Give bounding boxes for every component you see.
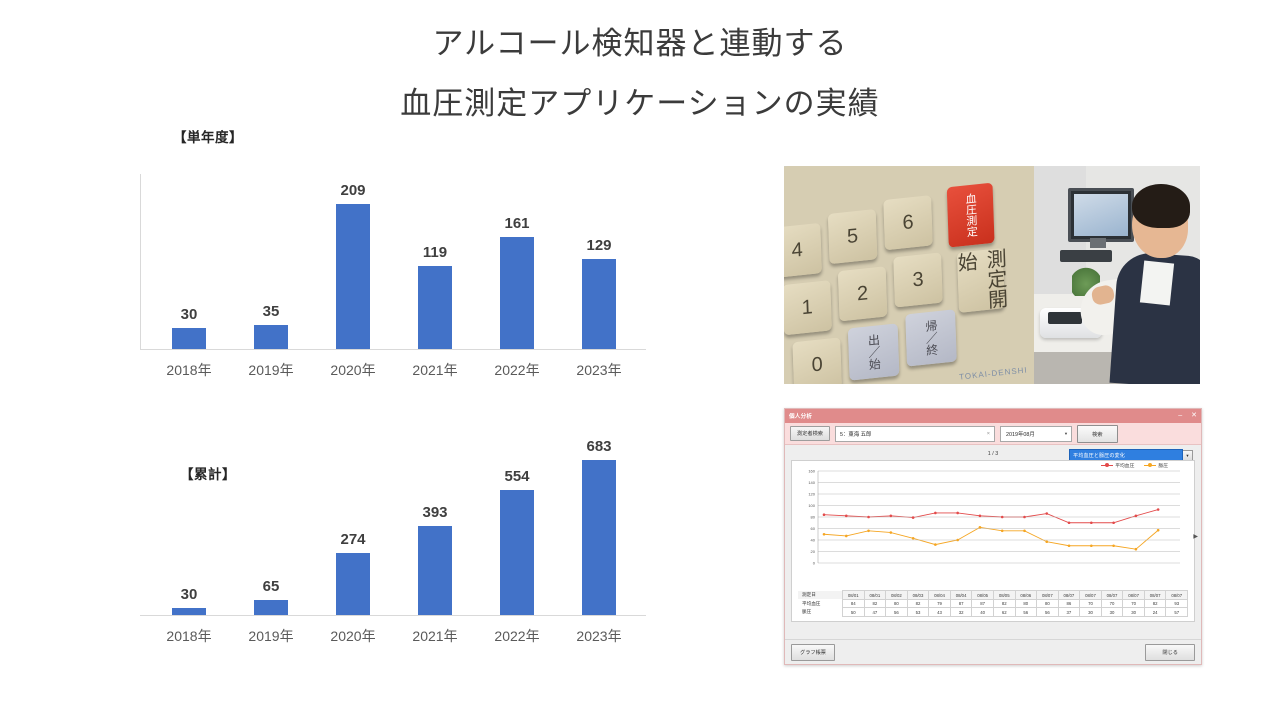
table-cell: 80 xyxy=(886,599,908,608)
svg-text:140: 140 xyxy=(808,480,815,485)
window-titlebar: 個人分析 – ✕ xyxy=(785,409,1201,423)
category-label: 2023年 xyxy=(558,626,640,646)
clear-icon[interactable]: × xyxy=(987,431,990,437)
window-footer: グラフ帳票 閉じる xyxy=(785,639,1201,664)
next-page-arrow-icon[interactable]: ▶ xyxy=(1193,533,1198,540)
legend-label: 脈圧 xyxy=(1158,462,1168,469)
table-cell: 08/01 xyxy=(864,591,886,600)
table-cell: 08/04 xyxy=(929,591,951,600)
table-row-header: 脈圧 xyxy=(798,608,843,617)
table-cell: 82 xyxy=(1144,599,1166,608)
table-cell: 57 xyxy=(1166,608,1188,617)
bar-value-label: 35 xyxy=(230,303,312,320)
table-cell: 08/05 xyxy=(993,591,1015,600)
legend-item: 平均血圧 xyxy=(1101,462,1134,469)
table-cell: 43 xyxy=(929,608,951,617)
chart-annual-plot: 302018年352019年2092020年1192021年1612022年12… xyxy=(148,166,644,401)
product-photo: 4 5 6 1 2 3 0 血圧測定 測定開始 出／始 帰／終 TOKAI-DE… xyxy=(784,166,1200,384)
bar xyxy=(254,325,288,349)
key-measure-start-label: 測定開始 xyxy=(951,247,1011,313)
table-cell: 24 xyxy=(1144,608,1166,617)
table-cell: 62 xyxy=(993,608,1015,617)
table-cell: 56 xyxy=(1037,608,1059,617)
table-cell: 30 xyxy=(1080,608,1102,617)
table-cell: 87 xyxy=(950,599,972,608)
svg-text:80: 80 xyxy=(811,515,816,520)
bp-line-chart-legend: 平均血圧脈圧 xyxy=(1101,462,1168,469)
title-line-1: アルコール検知器と連動する xyxy=(0,14,1280,74)
scene-monitor-stand xyxy=(1090,238,1106,248)
table-cell: 08/07 xyxy=(1037,591,1059,600)
bar xyxy=(254,600,288,615)
table-cell: 56 xyxy=(886,608,908,617)
keypad-device: 4 5 6 1 2 3 0 血圧測定 測定開始 出／始 帰／終 xyxy=(784,166,1034,384)
category-label: 2021年 xyxy=(394,360,476,380)
svg-text:160: 160 xyxy=(808,469,815,474)
bar-value-label: 161 xyxy=(476,215,558,232)
table-cell: 08/01 xyxy=(843,591,865,600)
window-controls: – ✕ xyxy=(1178,411,1197,420)
scene-monitor xyxy=(1068,188,1134,242)
bar xyxy=(336,553,370,615)
scene-person-shirt xyxy=(1140,261,1174,306)
table-cell: 84 xyxy=(843,599,865,608)
window-body: 1 / 3 平均血圧と脈圧の変化 ▼ 020406080100120140160… xyxy=(785,445,1201,641)
bar-value-label: 30 xyxy=(148,586,230,603)
bar xyxy=(418,266,452,349)
bar xyxy=(500,237,534,349)
table-cell: 82 xyxy=(907,599,929,608)
table-cell: 93 xyxy=(1166,599,1188,608)
table-cell: 82 xyxy=(993,599,1015,608)
table-cell: 08/07 xyxy=(1058,591,1080,600)
legend-label: 平均血圧 xyxy=(1115,462,1134,469)
table-row: 測定日08/0108/0108/0208/0308/0408/0408/0508… xyxy=(798,591,1188,600)
close-button[interactable]: 閉じる xyxy=(1145,644,1195,661)
personal-analysis-window: 個人分析 – ✕ 測定者検索 5：東海 五郎 × 2019年08月 ▼ 検索 1… xyxy=(784,408,1202,665)
chart-cumulative: 【累計】 302018年652019年2742020年3932021年55420… xyxy=(148,420,648,690)
bar xyxy=(418,526,452,615)
key-4: 4 xyxy=(784,223,822,278)
bar-value-label: 119 xyxy=(394,244,476,261)
table-cell: 08/03 xyxy=(907,591,929,600)
table-cell: 08/02 xyxy=(886,591,908,600)
chart-annual-caption: 【単年度】 xyxy=(173,126,243,146)
photo-keypad: 4 5 6 1 2 3 0 血圧測定 測定開始 出／始 帰／終 TOKAI-DE… xyxy=(784,166,1034,384)
legend-swatch xyxy=(1101,465,1113,467)
svg-text:100: 100 xyxy=(808,503,815,508)
chevron-down-icon: ▼ xyxy=(1064,431,1068,436)
scene-bp-slot xyxy=(1048,312,1082,324)
table-cell: 08/07 xyxy=(1080,591,1102,600)
bar xyxy=(336,204,370,349)
table-cell: 08/07 xyxy=(1144,591,1166,600)
scene-monitor-screen xyxy=(1074,194,1128,236)
window-title: 個人分析 xyxy=(789,412,812,420)
table-cell: 56 xyxy=(1015,608,1037,617)
category-label: 2020年 xyxy=(312,360,394,380)
category-label: 2023年 xyxy=(558,360,640,380)
key-measure-start: 測定開始 xyxy=(957,248,1005,313)
key-back-end-label: 帰／終 xyxy=(924,319,938,356)
category-label: 2018年 xyxy=(148,626,230,646)
chart-y-axis xyxy=(140,174,141,349)
bar-value-label: 274 xyxy=(312,531,394,548)
table-cell: 47 xyxy=(864,608,886,617)
table-cell: 08/05 xyxy=(972,591,994,600)
title-line-2: 血圧測定アプリケーションの実績 xyxy=(0,74,1280,134)
category-label: 2019年 xyxy=(230,626,312,646)
pager: 1 / 3 平均血圧と脈圧の変化 ▼ xyxy=(791,448,1195,460)
table-cell: 30 xyxy=(1101,608,1123,617)
category-label: 2018年 xyxy=(148,360,230,380)
key-out-start-label: 出／始 xyxy=(867,333,881,370)
table-cell: 37 xyxy=(1058,608,1080,617)
table-cell: 87 xyxy=(972,599,994,608)
bar xyxy=(582,460,616,615)
bar xyxy=(500,490,534,615)
svg-text:40: 40 xyxy=(811,538,816,543)
table-row-header: 平均血圧 xyxy=(798,599,843,608)
month-select-value: 2019年08月 xyxy=(1006,430,1035,438)
key-blood-pressure-measure: 血圧測定 xyxy=(947,183,995,248)
category-label: 2020年 xyxy=(312,626,394,646)
table-row: 平均血圧84828082798787828080867070708293 xyxy=(798,599,1188,608)
table-cell: 53 xyxy=(907,608,929,617)
key-2: 2 xyxy=(838,266,887,321)
table-cell: 82 xyxy=(864,599,886,608)
table-cell: 40 xyxy=(972,608,994,617)
chart-baseline xyxy=(140,349,646,350)
table-cell: 32 xyxy=(950,608,972,617)
category-label: 2022年 xyxy=(476,626,558,646)
key-blood-pressure-measure-label: 血圧測定 xyxy=(964,192,978,237)
category-label: 2021年 xyxy=(394,626,476,646)
table-cell: 08/04 xyxy=(950,591,972,600)
month-select[interactable]: 2019年08月 ▼ xyxy=(1000,426,1072,442)
bar xyxy=(582,259,616,349)
category-label: 2019年 xyxy=(230,360,312,380)
bar-value-label: 209 xyxy=(312,182,394,199)
svg-text:60: 60 xyxy=(811,526,816,531)
table-cell: 80 xyxy=(1015,599,1037,608)
key-out-start: 出／始 xyxy=(848,323,900,380)
bar-value-label: 30 xyxy=(148,306,230,323)
table-cell: 80 xyxy=(1037,599,1059,608)
key-1: 1 xyxy=(784,280,832,335)
scene-terminal-device xyxy=(1060,250,1112,262)
table-cell: 70 xyxy=(1123,599,1145,608)
legend-swatch xyxy=(1144,465,1156,467)
minimize-icon[interactable]: – xyxy=(1178,411,1182,420)
key-5: 5 xyxy=(828,209,877,264)
bp-line-chart: 020406080100120140160 xyxy=(798,467,1186,571)
legend-item: 脈圧 xyxy=(1144,462,1168,469)
table-row: 脈圧50475653433240625656373030302457 xyxy=(798,608,1188,617)
graph-report-button[interactable]: グラフ帳票 xyxy=(791,644,835,661)
close-icon[interactable]: ✕ xyxy=(1191,411,1197,420)
svg-text:0: 0 xyxy=(813,561,816,566)
key-3: 3 xyxy=(893,252,942,307)
table-cell: 86 xyxy=(1058,599,1080,608)
chart-card: 020406080100120140160 平均血圧脈圧 測定日08/0108/… xyxy=(791,460,1195,622)
table-row-header: 測定日 xyxy=(798,591,843,600)
table-cell: 70 xyxy=(1101,599,1123,608)
table-cell: 08/06 xyxy=(1015,591,1037,600)
table-cell: 70 xyxy=(1080,599,1102,608)
bp-line-chart-svg: 020406080100120140160 xyxy=(798,467,1186,571)
person-input[interactable]: 5：東海 五郎 × xyxy=(835,426,995,442)
table-cell: 30 xyxy=(1123,608,1145,617)
category-label: 2022年 xyxy=(476,360,558,380)
photo-office-scene xyxy=(1034,166,1200,384)
svg-text:20: 20 xyxy=(811,549,816,554)
pager-text: 1 / 3 xyxy=(988,451,999,457)
chart-cumulative-plot: 302018年652019年2742020年3932021年5542022年68… xyxy=(148,420,644,667)
bar xyxy=(172,328,206,349)
bar-value-label: 683 xyxy=(558,438,640,455)
key-back-end: 帰／終 xyxy=(905,309,957,366)
key-6: 6 xyxy=(883,195,932,250)
table-cell: 08/07 xyxy=(1101,591,1123,600)
chart-baseline xyxy=(140,615,646,616)
search-person-button[interactable]: 測定者検索 xyxy=(790,426,830,441)
bar-value-label: 393 xyxy=(394,504,476,521)
window-toolbar: 測定者検索 5：東海 五郎 × 2019年08月 ▼ 検索 xyxy=(785,423,1201,445)
search-button[interactable]: 検索 xyxy=(1077,425,1118,443)
bar-value-label: 554 xyxy=(476,468,558,485)
bar-value-label: 129 xyxy=(558,237,640,254)
svg-text:120: 120 xyxy=(808,492,815,497)
bar xyxy=(172,608,206,615)
scene-person-hair xyxy=(1132,184,1190,228)
table-cell: 79 xyxy=(929,599,951,608)
person-input-value: 5：東海 五郎 xyxy=(840,430,871,438)
table-cell: 08/07 xyxy=(1166,591,1188,600)
chart-annual: 【単年度】 302018年352019年2092020年1192021年1612… xyxy=(148,126,648,416)
table-cell: 50 xyxy=(843,608,865,617)
bp-data-table: 測定日08/0108/0108/0208/0308/0408/0408/0508… xyxy=(798,590,1188,617)
table-cell: 08/07 xyxy=(1123,591,1145,600)
key-0: 0 xyxy=(792,337,841,384)
bar-value-label: 65 xyxy=(230,578,312,595)
slide-title: アルコール検知器と連動する 血圧測定アプリケーションの実績 xyxy=(0,14,1280,134)
